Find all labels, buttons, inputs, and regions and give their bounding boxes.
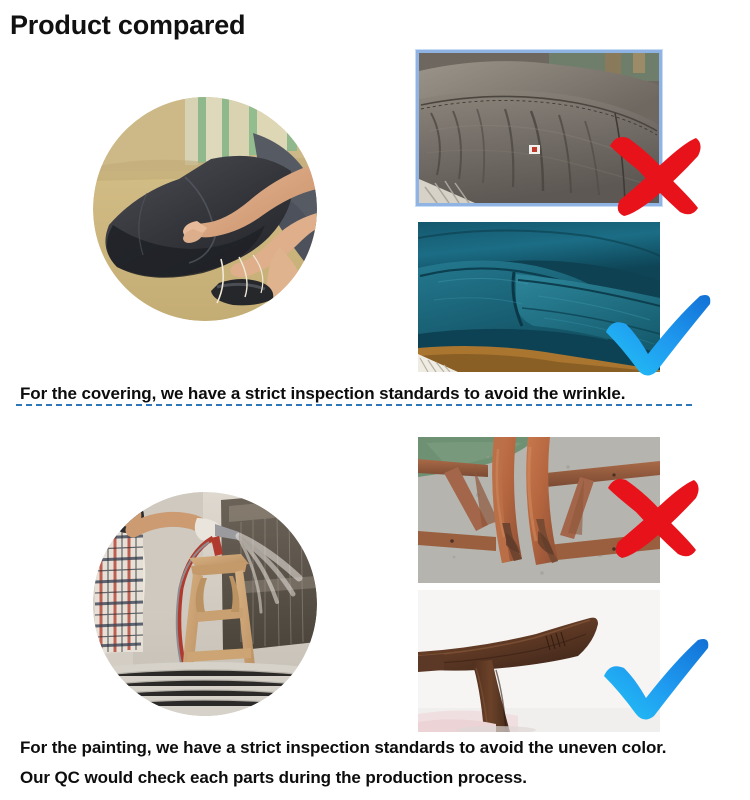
covering-process-image — [93, 97, 317, 321]
painting-process-image — [93, 492, 317, 716]
painting-caption-line-2: Our QC would check each parts during the… — [20, 768, 527, 788]
painting-caption-line-1: For the painting, we have a strict inspe… — [20, 738, 666, 758]
blue-check-icon — [602, 292, 712, 376]
blue-check-icon — [600, 636, 710, 720]
red-cross-icon — [600, 130, 706, 216]
covering-caption: For the covering, we have a strict inspe… — [20, 384, 625, 404]
painting-process-photo — [93, 492, 317, 716]
section-divider — [16, 404, 692, 406]
covering-process-photo — [93, 97, 317, 321]
red-cross-icon — [598, 472, 704, 558]
product-comparison-page: Product compared — [0, 0, 750, 800]
page-title: Product compared — [10, 10, 245, 41]
